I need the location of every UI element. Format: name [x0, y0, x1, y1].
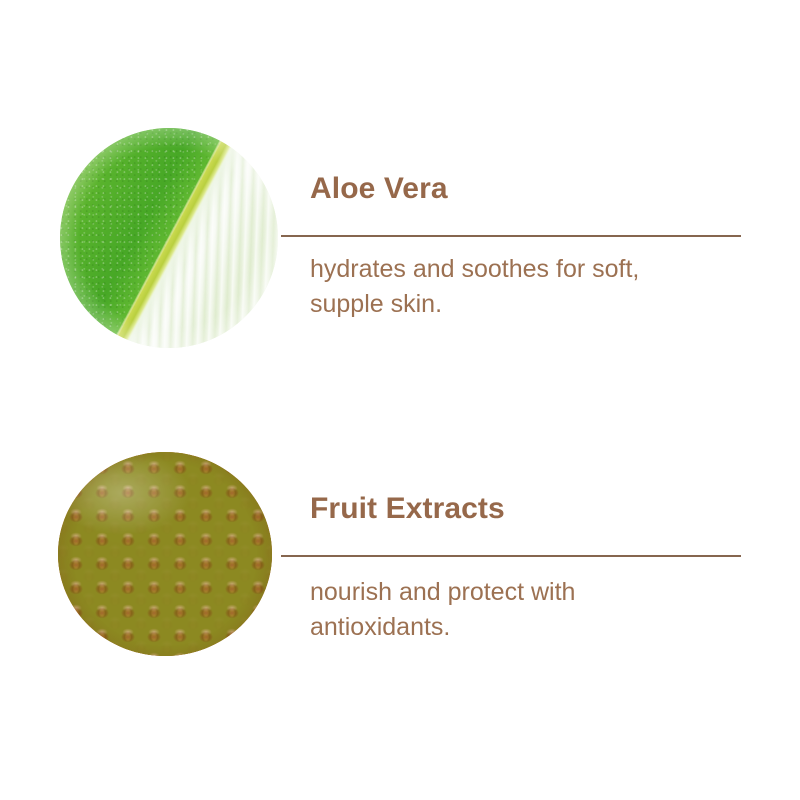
feature-title-fruit-extracts: Fruit Extracts: [310, 492, 760, 526]
aloe-vera-copy: Aloe Vera: [310, 172, 760, 206]
feature-title-aloe-vera: Aloe Vera: [310, 172, 760, 206]
fruit-extracts-image: [58, 452, 272, 656]
divider-fruit-extracts: [281, 555, 741, 557]
aloe-gel-fibers: [60, 128, 278, 348]
ingredient-benefits-panel: Aloe Vera hydrates and soothes for soft,…: [0, 0, 800, 800]
feature-description-fruit-extracts: nourish and protect with antioxidants.: [310, 575, 760, 645]
feature-description-aloe-vera: hydrates and soothes for soft, supple sk…: [310, 252, 760, 322]
aloe-vera-image: [60, 128, 278, 348]
fruit-extracts-copy: Fruit Extracts: [310, 492, 760, 526]
divider-aloe-vera: [281, 235, 741, 237]
strawberry-seeds-layer-b: [58, 452, 272, 656]
